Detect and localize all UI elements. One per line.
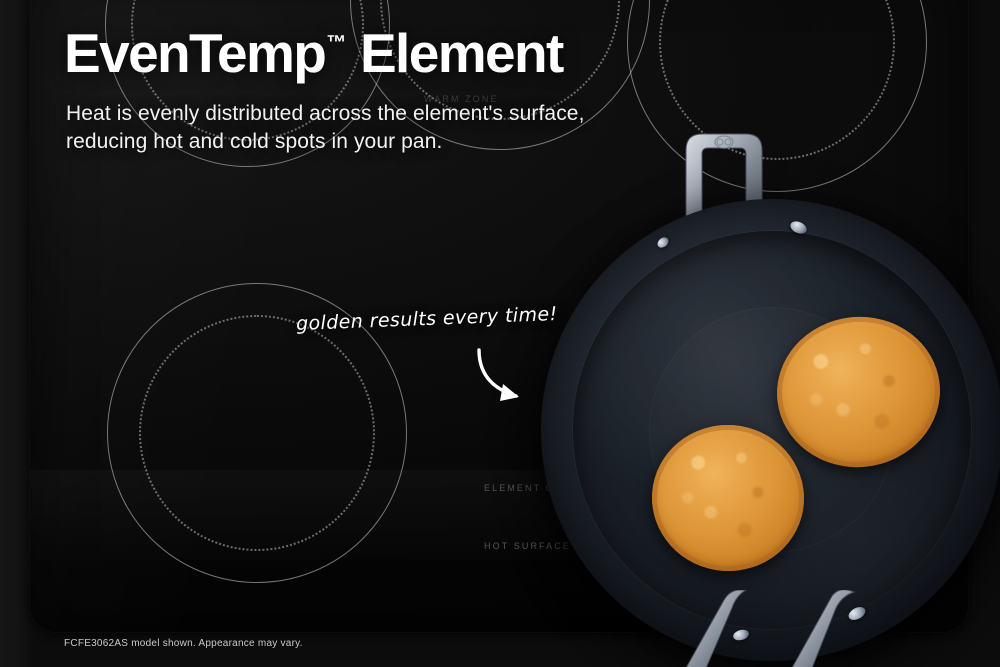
promo-banner: WARM ZONE ELEMENT ON HOT SURFACE [0, 0, 1000, 667]
indicator-label-hot-surface: HOT SURFACE [484, 541, 571, 551]
trademark-symbol: ™ [326, 32, 346, 54]
page-title: EvenTemp™ Element [64, 26, 563, 81]
headline-brand: EvenTemp [64, 22, 325, 84]
headline-suffix: Element [346, 22, 562, 84]
subtitle-line-2: reducing hot and cold spots in your pan. [66, 128, 585, 156]
indicator-label-element-on: ELEMENT ON [484, 483, 563, 493]
page-subtitle: Heat is evenly distributed across the el… [66, 100, 585, 155]
disclaimer-text: FCFE3062AS model shown. Appearance may v… [64, 638, 303, 649]
subtitle-line-1: Heat is evenly distributed across the el… [66, 100, 585, 128]
